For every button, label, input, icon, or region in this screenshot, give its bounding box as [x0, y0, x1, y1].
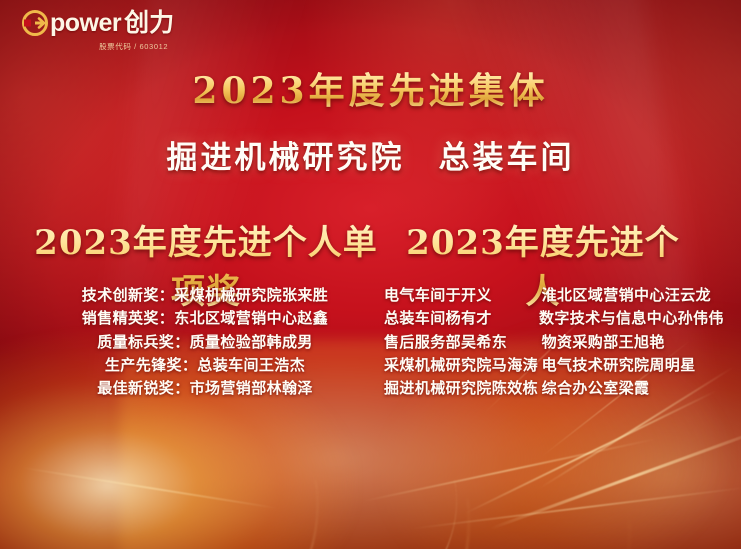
logo-text-en: power: [50, 11, 121, 36]
logo-text-cn: 创力: [124, 11, 174, 36]
silk-fold: [300, 0, 600, 240]
list-item: 售后服务部吴希东 物资采购部王旭艳: [384, 331, 714, 354]
person-name: 电气技术研究院周明星: [542, 354, 714, 377]
page-subtitle: 掘进机械研究院 总装车间: [0, 132, 741, 177]
list-item: 总装车间杨有才 数字技术与信息中心孙伟伟: [384, 307, 714, 330]
power-plug-icon: [22, 10, 48, 36]
bottom-haze: [0, 399, 741, 549]
person-name: 综合办公室梁霞: [542, 377, 714, 400]
light-streak: [465, 390, 718, 515]
list-item: 技术创新奖：采煤机械研究院张来胜: [40, 284, 370, 307]
person-name: 数字技术与信息中心孙伟伟: [539, 307, 714, 330]
list-item: 采煤机械研究院马海涛 电气技术研究院周明星: [384, 354, 714, 377]
award-poster: power 创力 股票代码 / 603012 2023年度先进集体 掘进机械研究…: [0, 0, 741, 549]
person-name: 物资采购部王旭艳: [542, 331, 714, 354]
person-name: 总装车间杨有才: [384, 307, 539, 330]
list-item: 电气车间于开义 淮北区域营销中心汪云龙: [384, 284, 714, 307]
person-name: 电气车间于开义: [384, 284, 542, 307]
person-name: 掘进机械研究院陈效栋: [384, 377, 542, 400]
person-name: 淮北区域营销中心汪云龙: [542, 284, 714, 307]
light-streak: [490, 425, 741, 530]
person-name: 采煤机械研究院马海涛: [384, 354, 542, 377]
page-title: 2023年度先进集体: [0, 62, 741, 114]
light-streak: [21, 467, 278, 510]
list-item: 销售精英奖：东北区域营销中心赵鑫: [40, 307, 370, 330]
logo-row: power 创力: [22, 10, 174, 36]
person-name: 售后服务部吴希东: [384, 331, 542, 354]
list-item: 质量标兵奖：质量检验部韩成男: [40, 331, 370, 354]
light-streak: [363, 438, 657, 502]
list-item: 最佳新锐奖：市场营销部林翰泽: [40, 377, 370, 400]
person-list: 电气车间于开义 淮北区域营销中心汪云龙 总装车间杨有才 数字技术与信息中心孙伟伟…: [384, 284, 714, 400]
award-list: 技术创新奖：采煤机械研究院张来胜 销售精英奖：东北区域营销中心赵鑫 质量标兵奖：…: [40, 284, 370, 400]
light-streak: [411, 486, 741, 529]
section-heading-row: 2023年度先进个人单项奖 2023年度先进个人: [0, 215, 741, 265]
stock-code-label: 股票代码 / 603012: [99, 41, 168, 52]
list-item: 生产先锋奖：总装车间王浩杰: [40, 354, 370, 377]
list-item: 掘进机械研究院陈效栋 综合办公室梁霞: [384, 377, 714, 400]
brand-logo: power 创力 股票代码 / 603012: [22, 10, 174, 52]
